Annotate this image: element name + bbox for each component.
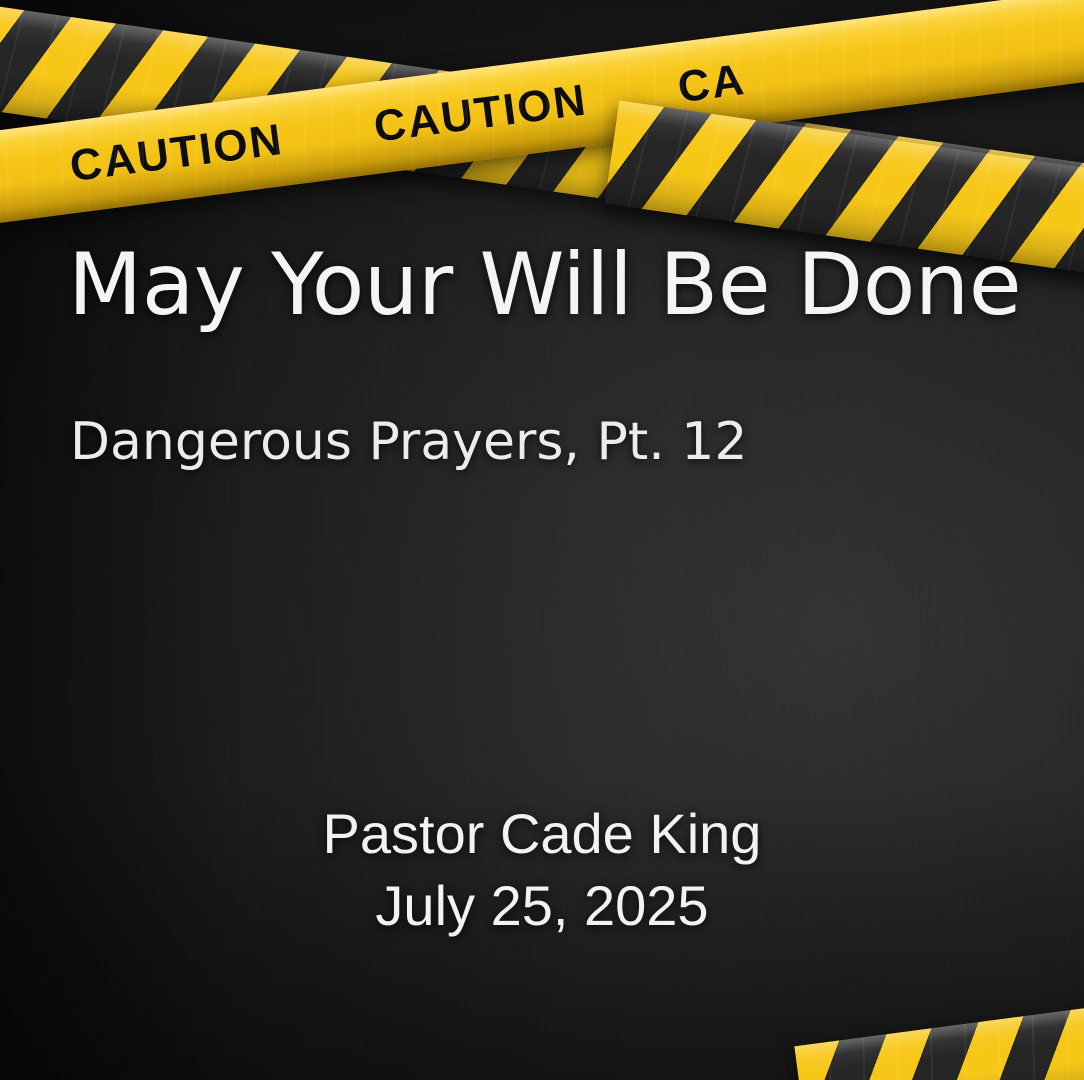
page-title: May Your Will Be Done xyxy=(68,240,1028,331)
series-subtitle: Dangerous Prayers, Pt. 12 xyxy=(70,414,1010,471)
credits-block: Pastor Cade King July 25, 2025 xyxy=(0,798,1084,941)
sermon-title-slide: ION CAUTION CAUTION CA May Your Will Be … xyxy=(0,0,1084,1080)
slide-content: May Your Will Be Done Dangerous Prayers,… xyxy=(0,0,1084,1080)
speaker-name: Pastor Cade King xyxy=(0,798,1084,870)
sermon-date: July 25, 2025 xyxy=(0,870,1084,942)
